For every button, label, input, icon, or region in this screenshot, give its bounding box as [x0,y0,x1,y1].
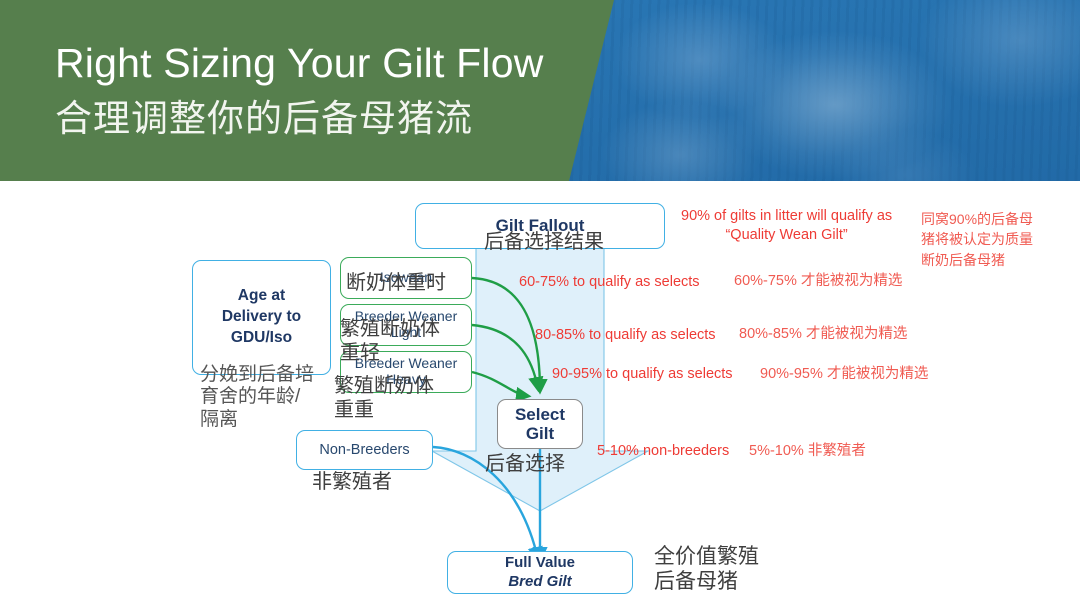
node-non-breeders[interactable]: Non-Breeders [296,430,433,470]
annotation-60-75-selects-en: 60-75% to qualify as selects [519,273,700,292]
annotation-90-95-selects-zh: 90%-95% 才能被视为精选 [760,365,928,384]
node-select-gilt-label: Select Gilt [515,405,565,443]
node-non-breeders-label: Non-Breeders [319,442,409,458]
annotation-90-95-selects-en: 90-95% to qualify as selects [552,365,733,384]
label-breeder-weaner-light-chinese: 繁殖断奶体 重轻 [340,318,440,365]
annotation-80-85-selects-zh: 80%-85% 才能被视为精选 [739,325,907,344]
page-title-chinese: 合理调整你的后备母猪流 [55,88,473,142]
annotation-90-percent-qualify-zh: 同窝90%的后备母 猪将被认定为质量 断奶后备母猪 [921,209,1033,270]
label-isowean-chinese: 断奶体重时 [346,272,446,296]
node-select-gilt[interactable]: Select Gilt [497,399,583,449]
node-full-value-bred-gilt[interactable]: Full Value Bred Gilt [447,551,633,594]
node-full-value-line1: Full Value [505,554,575,573]
label-select-gilt-chinese: 后备选择 [485,453,565,477]
slide-header: Right Sizing Your Gilt Flow 合理调整你的后备母猪流 [0,0,1080,181]
annotation-5-10-non-breeders-zh: 5%-10% 非繁殖者 [749,442,866,461]
annotation-80-85-selects-en: 80-85% to qualify as selects [535,326,716,345]
node-age-at-delivery[interactable]: Age at Delivery to GDU/Iso [192,260,331,375]
label-full-value-chinese: 全价值繁殖 后备母猪 [654,545,759,595]
label-breeder-weaner-heavy-chinese: 繁殖断奶体 重重 [334,375,434,422]
page-title-english: Right Sizing Your Gilt Flow [55,40,544,87]
gilt-flow-diagram: Gilt Fallout Age at Delivery to GDU/Iso … [0,181,1080,608]
label-non-breeders-chinese: 非繁殖者 [312,471,392,495]
label-gilt-fallout-chinese: 后备选择结果 [484,231,604,255]
node-age-at-delivery-label: Age at Delivery to GDU/Iso [222,286,301,349]
node-full-value-line2: Bred Gilt [508,573,571,592]
label-age-at-delivery-chinese: 分娩到后备培 育舍的年龄/ 隔离 [200,364,314,431]
annotation-5-10-non-breeders-en: 5-10% non-breeders [597,442,729,461]
annotation-90-percent-qualify-en: 90% of gilts in litter will qualify as “… [681,207,892,245]
annotation-60-75-selects-zh: 60%-75% 才能被视为精选 [734,272,902,291]
